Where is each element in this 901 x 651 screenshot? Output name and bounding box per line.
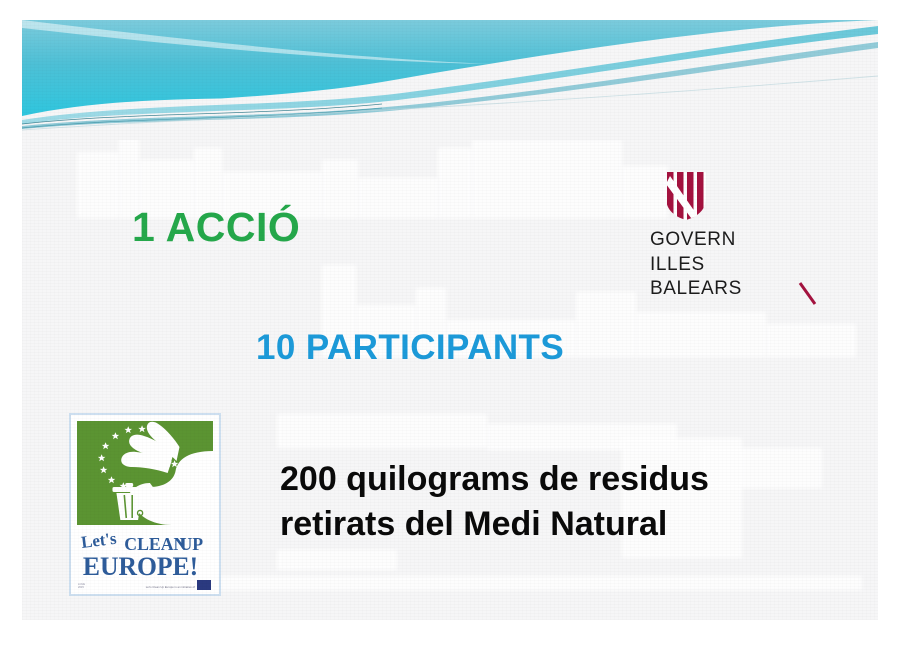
waste-line-2: retirats del Medi Natural xyxy=(280,502,709,547)
waste-line-1: 200 quilograms de residus xyxy=(280,457,709,502)
waste-collected-statement: 200 quilograms de residus retirats del M… xyxy=(280,457,709,547)
govern-line-2: ILLES xyxy=(650,253,815,278)
presentation-slide: 1 ACCIÓ 10 PARTICIPANTS 200 quilograms d… xyxy=(22,20,878,620)
header-wave-decoration xyxy=(22,20,878,140)
govern-wordmark: GOVERN ILLES BALEARS xyxy=(650,228,815,302)
lcue-footer: LCUE 2015 Let's Clean Up Europe is an in… xyxy=(77,580,213,590)
govern-line-1: GOVERN xyxy=(650,228,815,253)
headline-participants-count: 10 PARTICIPANTS xyxy=(256,328,564,368)
balearic-shield-icon xyxy=(664,170,708,222)
govern-illes-balears-logo: GOVERN ILLES BALEARS xyxy=(650,170,815,302)
lcue-word-lets: Let's xyxy=(80,529,118,552)
lcue-artwork-panel xyxy=(77,421,213,525)
eu-flag-icon xyxy=(197,580,211,590)
govern-slash-icon xyxy=(797,281,819,307)
lcue-footer-tagline: Let's Clean Up Europe is an initiative o… xyxy=(146,586,195,589)
hand-holding-bin-icon xyxy=(112,422,213,525)
lcue-footer-code: LCUE 2015 xyxy=(78,584,85,590)
lets-clean-up-europe-logo: Let's CLEAN UP EUROPE! LCUE 2015 Let's C… xyxy=(69,413,221,596)
lcue-word-europe: EUROPE! xyxy=(83,552,198,580)
lcue-wordmark: Let's CLEAN UP EUROPE! xyxy=(77,525,213,580)
headline-action-count: 1 ACCIÓ xyxy=(132,204,300,251)
govern-line-3: BALEARS xyxy=(650,277,815,302)
